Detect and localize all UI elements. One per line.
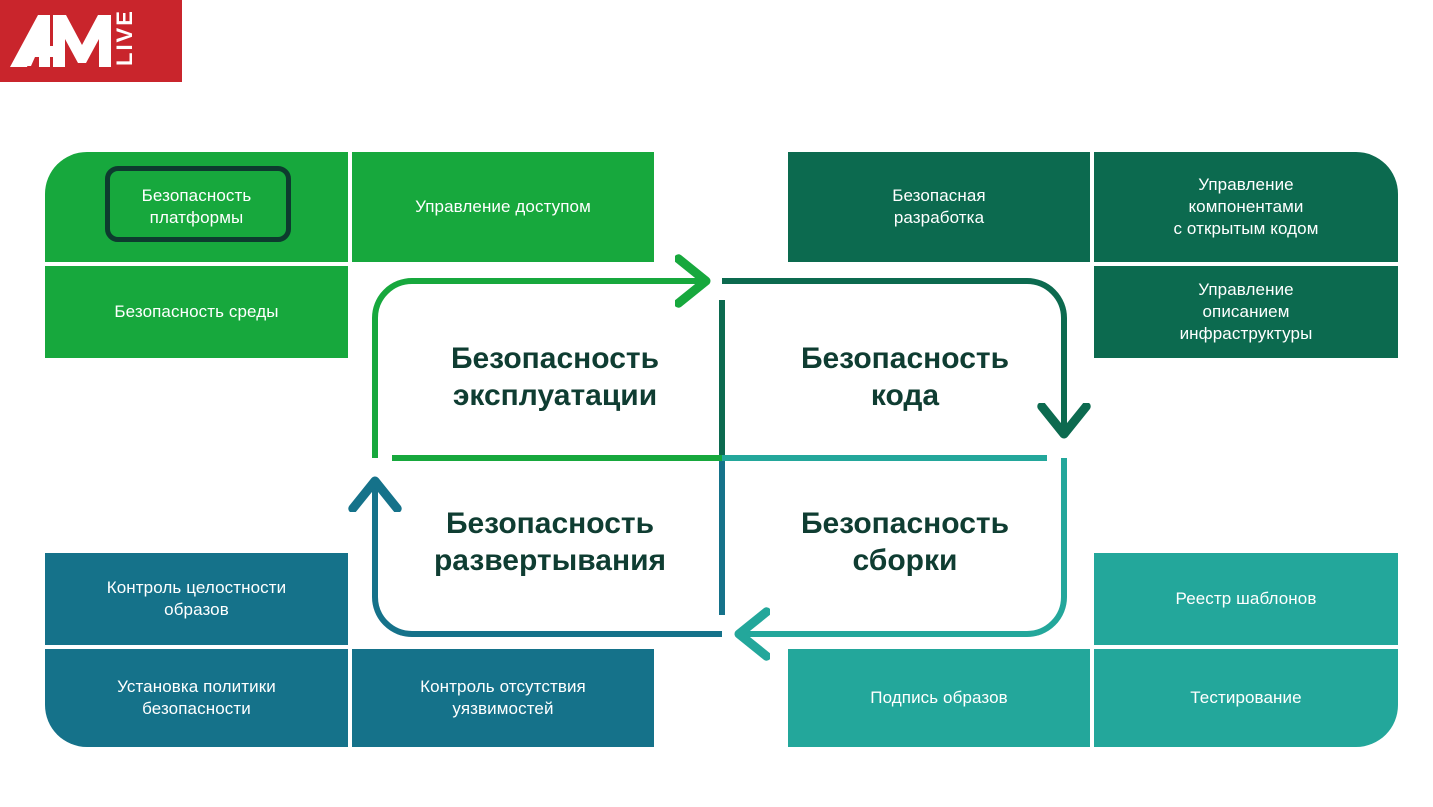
- tile-label: Контроль целостности образов: [107, 577, 286, 621]
- quadrant-label-code: Безопасность кода: [760, 330, 1050, 425]
- quadrant-label-build: Безопасность сборки: [760, 495, 1050, 590]
- quadrant-label-text: Безопасность эксплуатации: [451, 341, 659, 414]
- tile-template-registry[interactable]: Реестр шаблонов: [1094, 553, 1398, 645]
- tile-environment-security[interactable]: Безопасность среды: [45, 266, 348, 358]
- tile-label: Безопасность платформы: [142, 185, 252, 229]
- diagram-canvas: LIVE Безопасность платформы Управление д…: [0, 0, 1433, 807]
- quadrant-label-deploy: Безопасность развертывания: [400, 495, 700, 590]
- tile-label: Подпись образов: [870, 687, 1008, 709]
- tile-label: Управление компонентами с открытым кодом: [1174, 174, 1319, 239]
- tile-image-signing[interactable]: Подпись образов: [788, 649, 1090, 747]
- tile-label: Безопасность среды: [114, 301, 278, 323]
- tile-label: Тестирование: [1190, 687, 1301, 709]
- tile-image-integrity-control[interactable]: Контроль целостности образов: [45, 553, 348, 645]
- tile-vulnerability-absence-control[interactable]: Контроль отсутствия уязвимостей: [352, 649, 654, 747]
- tile-security-policy-setup[interactable]: Установка политики безопасности: [45, 649, 348, 747]
- tile-label: Установка политики безопасности: [117, 676, 276, 720]
- tile-open-source-components[interactable]: Управление компонентами с открытым кодом: [1094, 152, 1398, 262]
- am-live-logo: LIVE: [0, 0, 182, 82]
- tile-infrastructure-as-code[interactable]: Управление описанием инфраструктуры: [1094, 266, 1398, 358]
- quadrant-label-text: Безопасность сборки: [801, 506, 1009, 579]
- tile-label: Управление описанием инфраструктуры: [1180, 279, 1313, 344]
- svg-text:LIVE: LIVE: [112, 9, 137, 66]
- tile-platform-security[interactable]: Безопасность платформы: [45, 152, 348, 262]
- quadrant-label-text: Безопасность развертывания: [434, 506, 666, 579]
- tile-label: Управление доступом: [415, 196, 591, 218]
- quadrant-label-operation: Безопасность эксплуатации: [410, 330, 700, 425]
- tile-label: Реестр шаблонов: [1176, 588, 1317, 610]
- am-live-logo-mark: LIVE: [0, 0, 182, 82]
- tile-label: Контроль отсутствия уязвимостей: [420, 676, 586, 720]
- quadrant-label-text: Безопасность кода: [801, 341, 1009, 414]
- tile-testing[interactable]: Тестирование: [1094, 649, 1398, 747]
- tile-label: Безопасная разработка: [892, 185, 986, 229]
- tile-secure-development[interactable]: Безопасная разработка: [788, 152, 1090, 262]
- tile-access-management[interactable]: Управление доступом: [352, 152, 654, 262]
